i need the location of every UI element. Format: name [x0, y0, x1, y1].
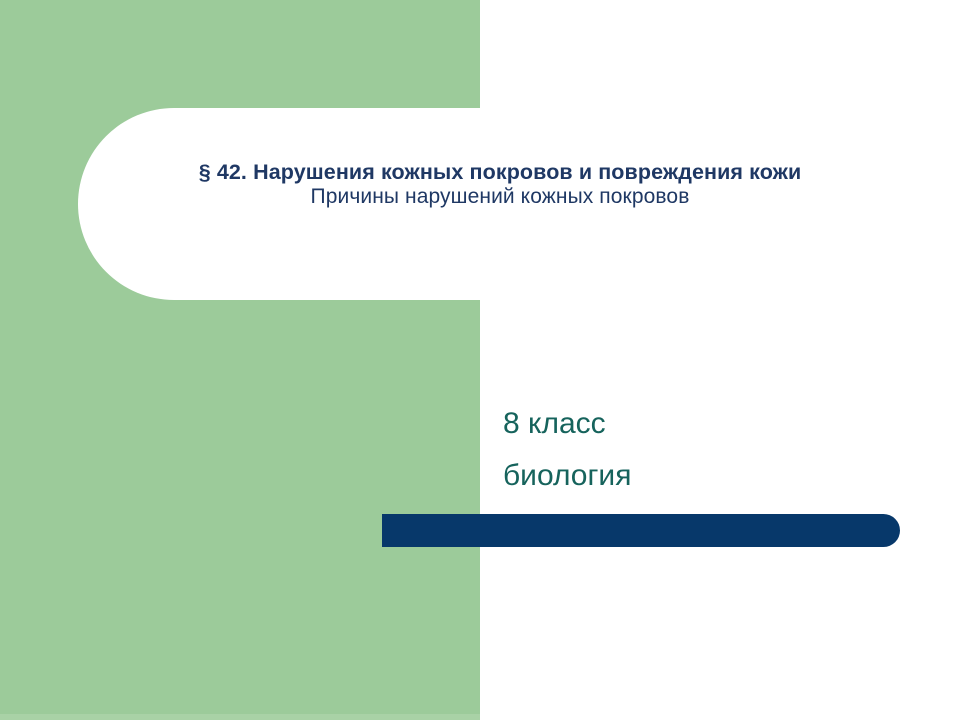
slide-subtitle-grade: 8 класс [503, 398, 903, 450]
slide-subtitle-subject: биология [503, 450, 903, 502]
slide-title: § 42. Нарушения кожных покровов и повреж… [78, 160, 922, 210]
presentation-slide: § 42. Нарушения кожных покровов и повреж… [0, 0, 960, 720]
slide-title-line-2: Причины нарушений кожных покровов [78, 185, 922, 210]
slide-subtitle: 8 класс биология [503, 398, 903, 501]
accent-bar-shape [382, 514, 900, 547]
green-side-panel-footer-strip [0, 714, 480, 720]
slide-title-line-1: § 42. Нарушения кожных покровов и повреж… [78, 160, 922, 185]
